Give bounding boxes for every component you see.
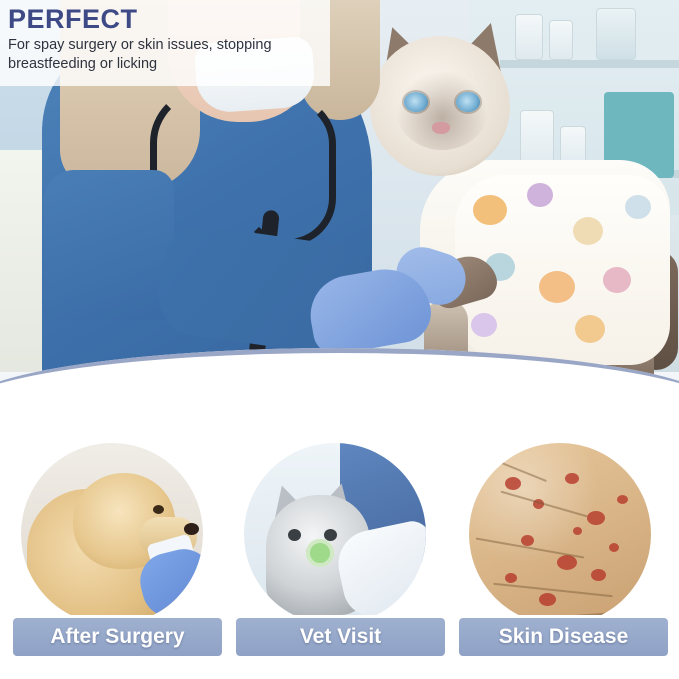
skin-disease-label: Skin Disease: [456, 615, 671, 659]
cat-eye-left: [404, 92, 428, 112]
headline-banner: PERFECT For spay surgery or skin issues,…: [0, 0, 330, 86]
curved-divider-stroke: [0, 348, 679, 432]
vet-visit-photo: [241, 440, 429, 628]
product-infographic: PERFECT For spay surgery or skin issues,…: [0, 0, 679, 679]
page-title: PERFECT: [8, 4, 320, 34]
after-surgery-photo: [18, 440, 206, 628]
hero-image: PERFECT For spay surgery or skin issues,…: [0, 0, 679, 432]
use-case-after-surgery[interactable]: After Surgery: [10, 440, 225, 665]
use-case-vet-visit[interactable]: Vet Visit: [233, 440, 448, 665]
supply-jar: [549, 20, 573, 60]
shelf-board: [500, 60, 679, 68]
stethoscope-right: [240, 96, 336, 246]
vet-visit-label: Vet Visit: [233, 615, 448, 659]
supply-jar: [515, 14, 543, 60]
page-subtitle: For spay surgery or skin issues, stoppin…: [8, 36, 320, 74]
use-case-skin-disease[interactable]: Skin Disease: [456, 440, 671, 665]
use-case-panels: After Surgery Vet Visit: [0, 440, 679, 679]
vet-sleeve: [44, 170, 174, 320]
after-surgery-label: After Surgery: [10, 615, 225, 659]
skin-disease-photo: [466, 440, 654, 628]
cat-nose: [432, 122, 450, 134]
supply-jar: [596, 8, 636, 60]
cat-eye-right: [456, 92, 480, 112]
